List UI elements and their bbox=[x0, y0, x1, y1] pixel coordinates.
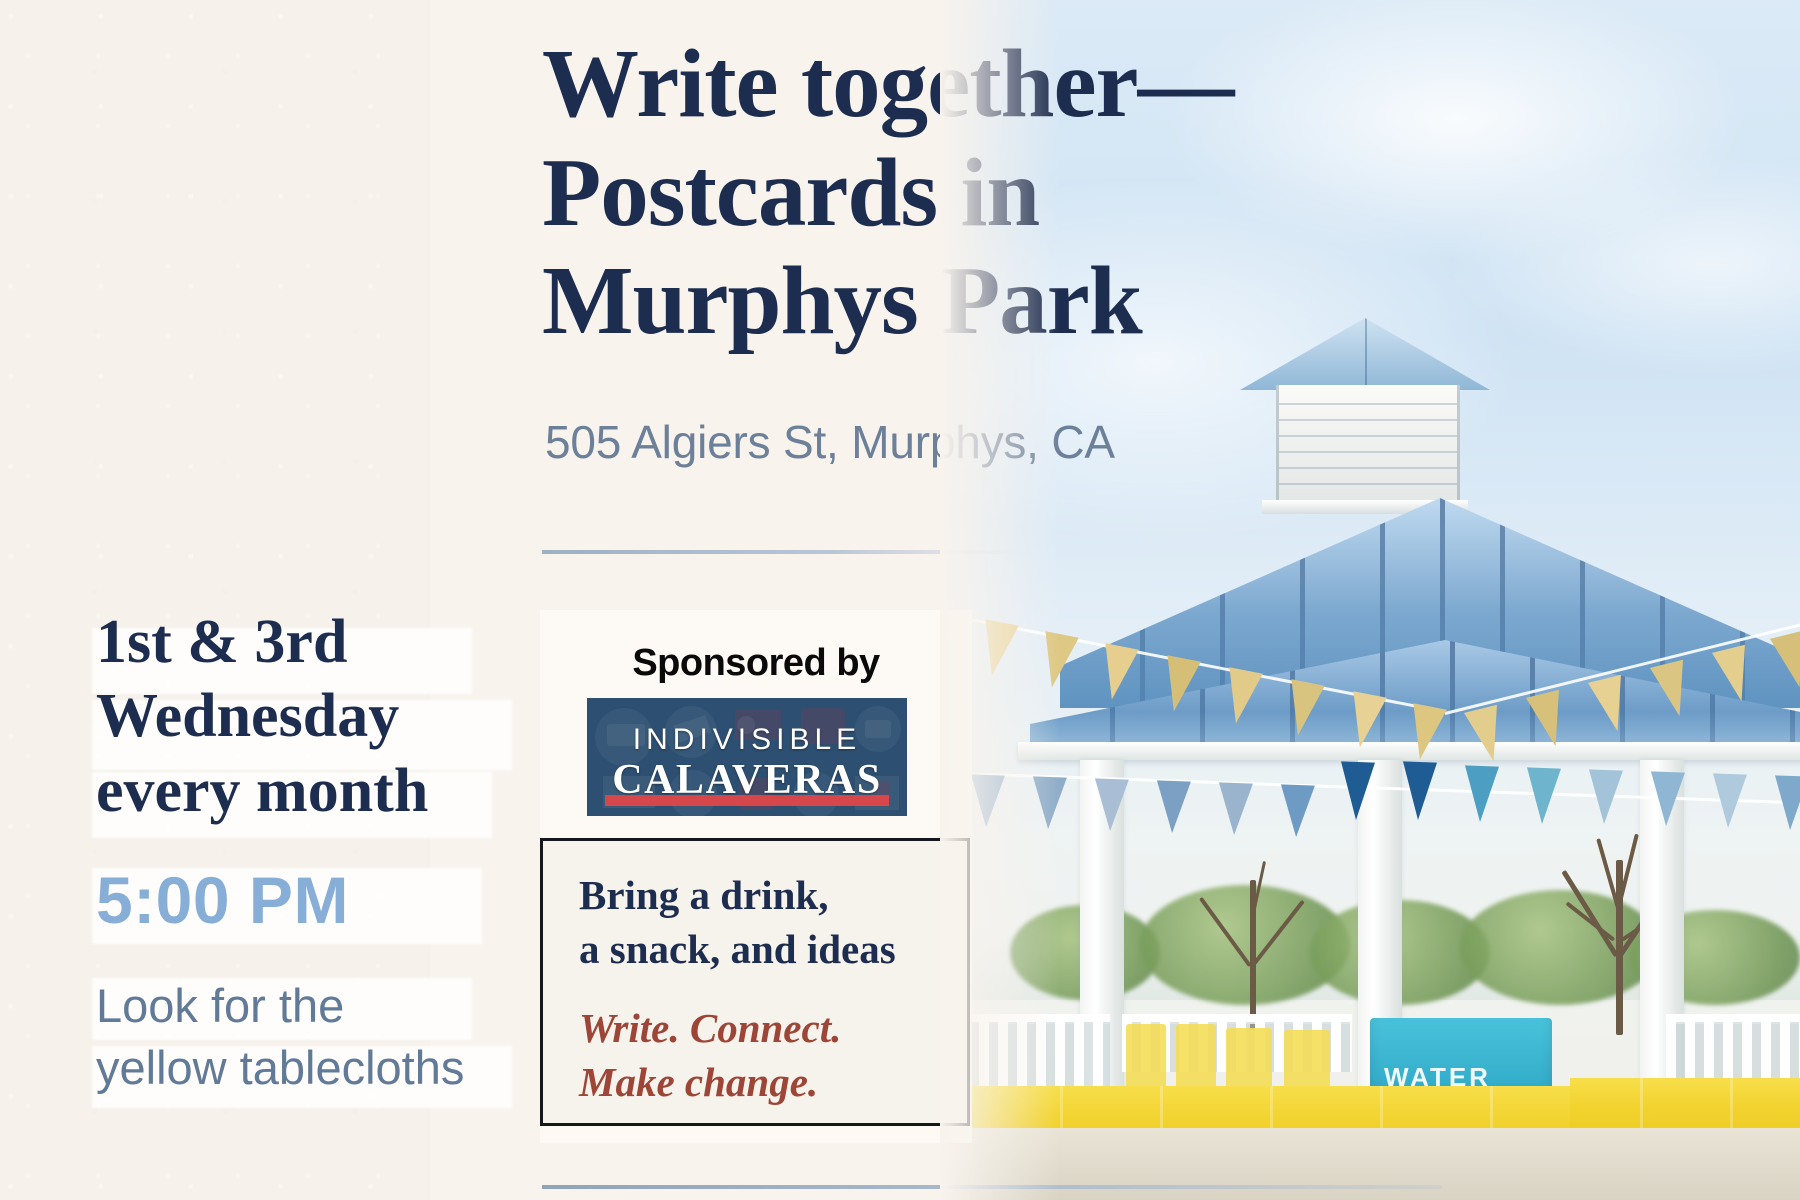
pennant bbox=[1401, 761, 1437, 820]
yellow-chair bbox=[1226, 1028, 1272, 1090]
ground-pavement bbox=[940, 1128, 1800, 1200]
bare-tree bbox=[1180, 840, 1330, 1030]
pennant bbox=[1339, 761, 1375, 820]
pennant bbox=[1463, 765, 1499, 822]
pennant bbox=[1155, 780, 1191, 833]
pennant bbox=[1711, 773, 1747, 828]
pennant bbox=[1217, 782, 1253, 835]
gazebo-cupola-body bbox=[1276, 385, 1460, 503]
lookfor-text: Look for the yellow tablecloths bbox=[96, 975, 526, 1099]
tagline-line-1: Write. Connect. bbox=[579, 1001, 959, 1055]
schedule-line-3: every month bbox=[96, 754, 516, 828]
event-time: 5:00 PM bbox=[96, 862, 349, 938]
tagline-line-2: Make change. bbox=[579, 1055, 959, 1109]
yellow-chair bbox=[1284, 1030, 1330, 1090]
note-box: Bring a drink, a snack, and ideas Write.… bbox=[540, 838, 970, 1126]
event-flyer: WATER Write together— Postcards in bbox=[0, 0, 1800, 1200]
pennant bbox=[1773, 775, 1800, 830]
pennant bbox=[1525, 767, 1561, 824]
bring-line-1: Bring a drink, bbox=[579, 868, 959, 922]
bring-text: Bring a drink, a snack, and ideas bbox=[579, 868, 959, 976]
pennant bbox=[1279, 784, 1315, 837]
logo-indivisible-text: INDIVISIBLE bbox=[587, 723, 907, 757]
pennant bbox=[1587, 769, 1623, 824]
indivisible-calaveras-logo: INDIVISIBLE CALAVERAS bbox=[587, 698, 907, 816]
schedule-text: 1st & 3rd Wednesday every month bbox=[96, 605, 516, 828]
schedule-line-2: Wednesday bbox=[96, 679, 516, 753]
logo-calaveras-text: CALAVERAS bbox=[587, 756, 907, 804]
yellow-chair bbox=[1126, 1024, 1166, 1090]
lookfor-line-1: Look for the bbox=[96, 975, 526, 1037]
pennant bbox=[1649, 771, 1685, 826]
photo-left-fade bbox=[940, 0, 1060, 1200]
bring-line-2: a snack, and ideas bbox=[579, 922, 959, 976]
pennant bbox=[1093, 778, 1129, 831]
yellow-chair bbox=[1176, 1024, 1216, 1090]
schedule-line-1: 1st & 3rd bbox=[96, 605, 516, 679]
lookfor-line-2: yellow tablecloths bbox=[96, 1037, 526, 1099]
sponsored-by-label: Sponsored by bbox=[540, 642, 972, 685]
tagline-text: Write. Connect. Make change. bbox=[579, 1001, 959, 1109]
